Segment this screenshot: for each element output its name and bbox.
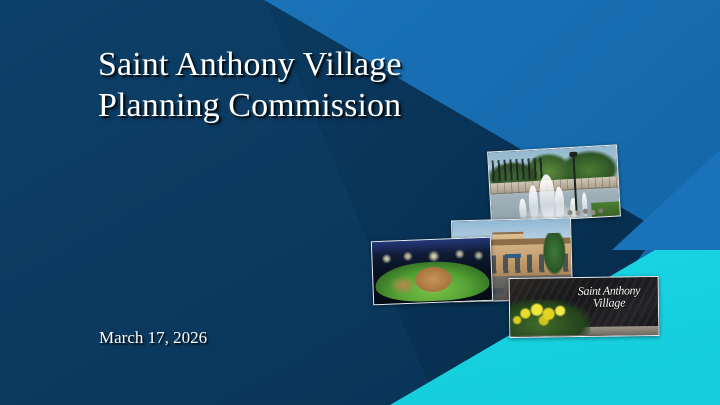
photo-village-sign[interactable]: Saint Anthony Village [509, 276, 660, 338]
fountain-fence [491, 158, 543, 182]
photo-fountain-art [488, 145, 620, 222]
sign-flower-bed [509, 299, 591, 336]
title-line-2: Planning Commission [98, 85, 518, 126]
slide-date: March 17, 2026 [99, 328, 207, 348]
photo-fountain[interactable] [487, 144, 621, 223]
photo-ballfield-art [372, 238, 492, 304]
building-awning [505, 253, 522, 257]
page-title: Saint Anthony Village Planning Commissio… [98, 44, 518, 126]
title-line-1: Saint Anthony Village [98, 44, 518, 85]
title-slide: Saint Anthony Village Saint Anthony Vill… [0, 0, 720, 405]
photo-village-sign-art: Saint Anthony Village [510, 277, 659, 337]
photo-ballfield[interactable] [371, 237, 493, 306]
building-tree [542, 233, 567, 275]
